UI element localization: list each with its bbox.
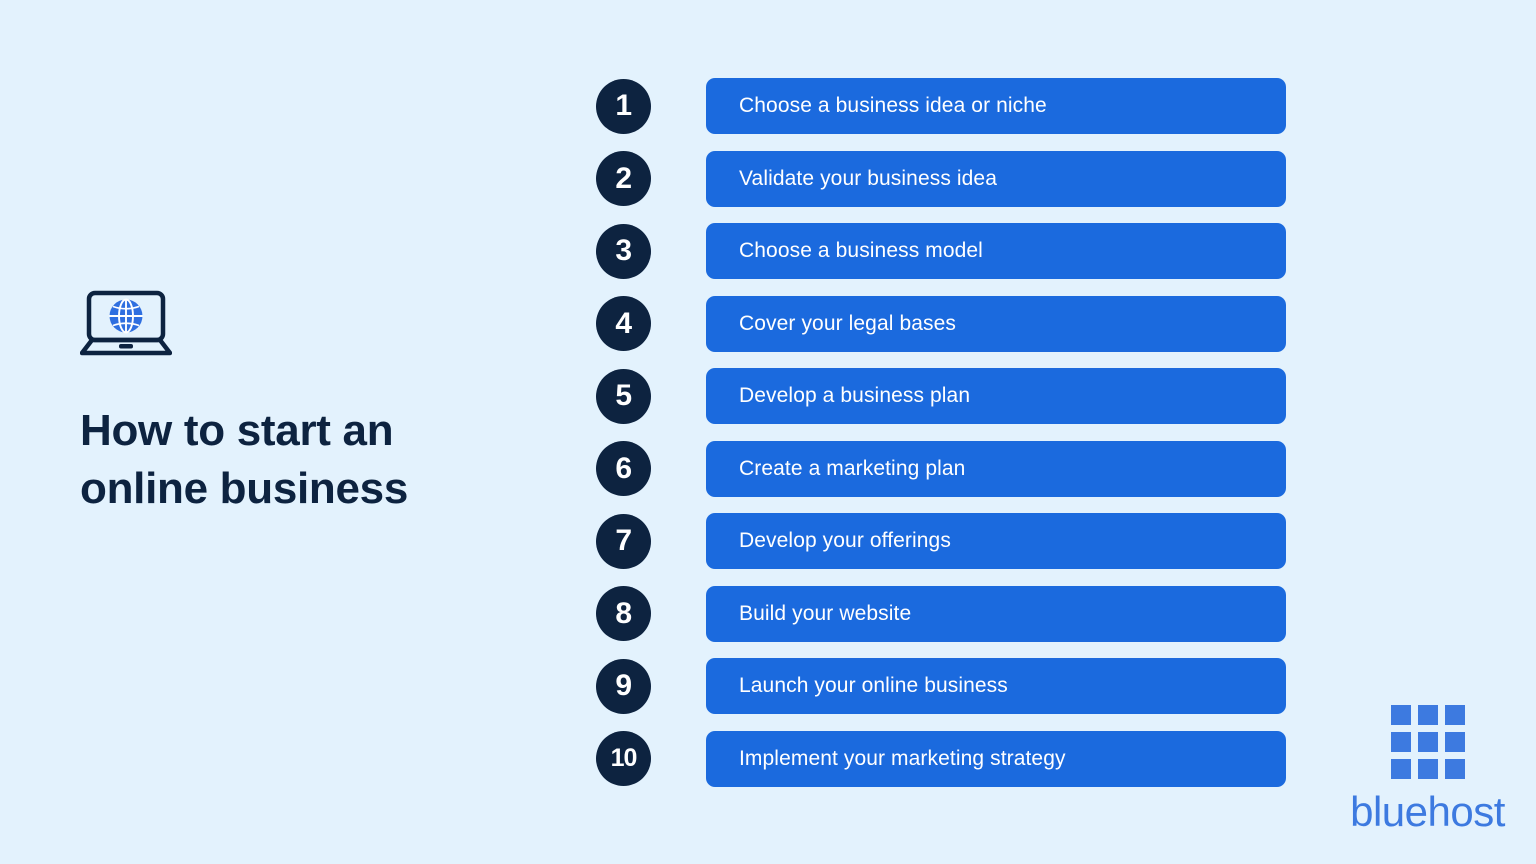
step-pill[interactable]: Choose a business model [706, 223, 1286, 279]
step-pill[interactable]: Develop your offerings [706, 513, 1286, 569]
step-row[interactable]: 2 Validate your business idea [596, 151, 1286, 207]
logo-square [1418, 705, 1438, 725]
logo-square [1445, 732, 1465, 752]
logo-square [1445, 759, 1465, 779]
step-row[interactable]: 10 Implement your marketing strategy [596, 731, 1286, 787]
bluehost-wordmark: bluehost [1340, 791, 1515, 833]
step-label: Launch your online business [739, 674, 1008, 698]
step-pill[interactable]: Build your website [706, 586, 1286, 642]
step-row[interactable]: 5 Develop a business plan [596, 368, 1286, 424]
step-number-badge: 5 [596, 369, 651, 424]
step-label: Implement your marketing strategy [739, 747, 1066, 771]
step-pill[interactable]: Develop a business plan [706, 368, 1286, 424]
logo-square [1391, 705, 1411, 725]
step-label: Build your website [739, 602, 911, 626]
step-pill[interactable]: Launch your online business [706, 658, 1286, 714]
step-number-badge: 7 [596, 514, 651, 569]
logo-square [1391, 759, 1411, 779]
step-number-badge: 1 [596, 79, 651, 134]
step-row[interactable]: 8 Build your website [596, 586, 1286, 642]
step-label: Cover your legal bases [739, 312, 956, 336]
step-pill[interactable]: Cover your legal bases [706, 296, 1286, 352]
step-label: Develop your offerings [739, 529, 951, 553]
step-number-badge: 10 [596, 731, 651, 786]
step-label: Develop a business plan [739, 384, 970, 408]
bluehost-logo: bluehost [1340, 705, 1515, 833]
step-row[interactable]: 3 Choose a business model [596, 223, 1286, 279]
bluehost-grid-icon [1391, 705, 1465, 779]
laptop-globe-icon [80, 290, 172, 358]
step-number-badge: 4 [596, 296, 651, 351]
step-row[interactable]: 4 Cover your legal bases [596, 296, 1286, 352]
step-label: Choose a business idea or niche [739, 94, 1047, 118]
logo-square [1418, 759, 1438, 779]
step-pill[interactable]: Choose a business idea or niche [706, 78, 1286, 134]
left-panel: How to start an online business [80, 290, 500, 518]
step-number-badge: 2 [596, 151, 651, 206]
step-row[interactable]: 7 Develop your offerings [596, 513, 1286, 569]
step-number-badge: 8 [596, 586, 651, 641]
step-number-badge: 6 [596, 441, 651, 496]
step-pill[interactable]: Create a marketing plan [706, 441, 1286, 497]
steps-list: 1 Choose a business idea or niche 2 Vali… [596, 78, 1286, 803]
logo-square [1445, 705, 1465, 725]
logo-square [1418, 732, 1438, 752]
step-pill[interactable]: Validate your business idea [706, 151, 1286, 207]
page-title: How to start an online business [80, 402, 500, 518]
step-row[interactable]: 1 Choose a business idea or niche [596, 78, 1286, 134]
step-label: Validate your business idea [739, 167, 997, 191]
step-label: Create a marketing plan [739, 457, 965, 481]
step-label: Choose a business model [739, 239, 983, 263]
step-row[interactable]: 6 Create a marketing plan [596, 441, 1286, 497]
step-number-badge: 3 [596, 224, 651, 279]
step-pill[interactable]: Implement your marketing strategy [706, 731, 1286, 787]
logo-square [1391, 732, 1411, 752]
step-number-badge: 9 [596, 659, 651, 714]
step-row[interactable]: 9 Launch your online business [596, 658, 1286, 714]
